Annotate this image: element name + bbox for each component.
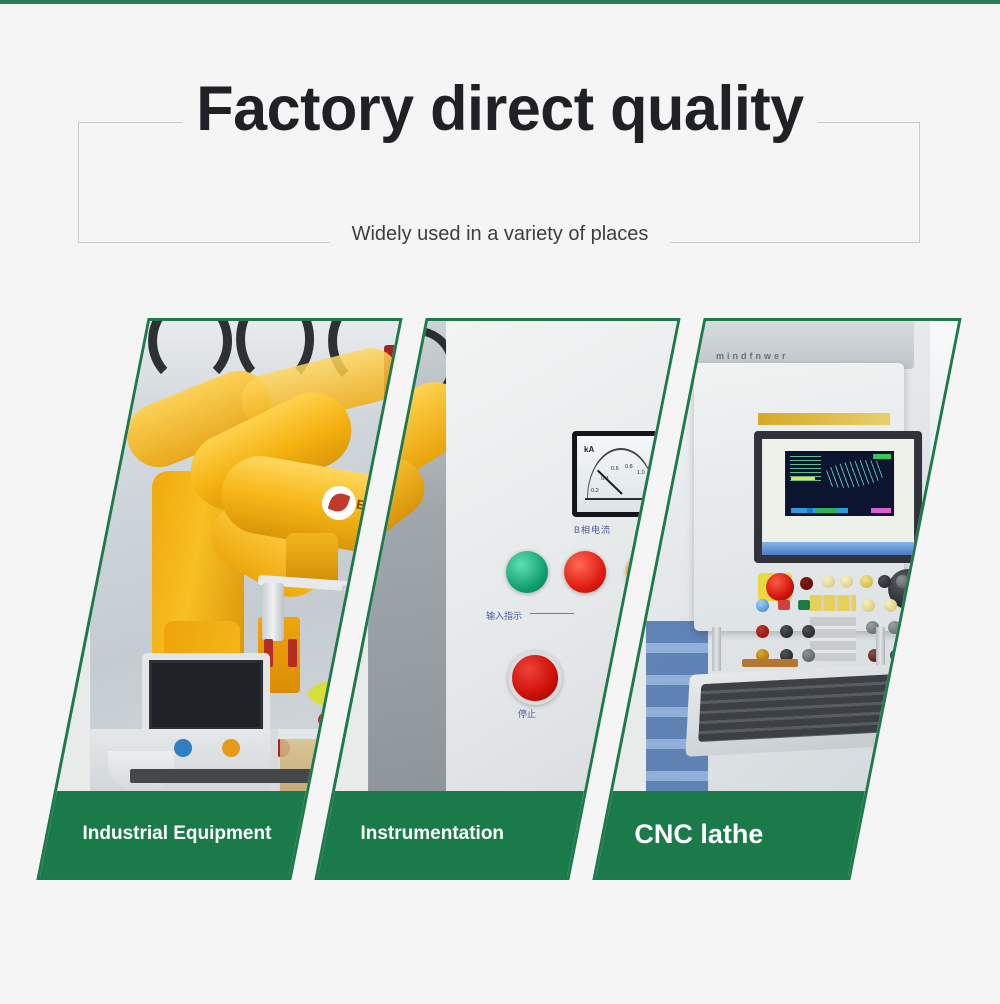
- card-caption-label: CNC lathe: [604, 819, 763, 850]
- category-card-strip: EFORT Industrial Equipment: [0, 318, 1000, 888]
- card-caption-label: Industrial Equipment: [48, 823, 271, 845]
- page-subtitle-text: Widely used in a variety of places: [330, 223, 671, 245]
- cnc-display-bezel: [754, 431, 922, 563]
- stop-button-label: 停止: [518, 707, 536, 720]
- card-caption-label: Instrumentation: [326, 823, 504, 845]
- card-caption-bar: CNC lathe: [596, 791, 865, 877]
- page-title-text: Factory direct quality: [183, 74, 818, 144]
- top-accent-strip: [0, 0, 1000, 4]
- hmi-touchscreen: [142, 653, 270, 737]
- indicator-lamp-green-input: [506, 551, 548, 593]
- page-subtitle: Widely used in a variety of places: [0, 224, 1000, 244]
- stop-button[interactable]: [508, 651, 562, 705]
- ammeter-phase-b-label: B相电流: [574, 523, 611, 536]
- card-caption-bar: Industrial Equipment: [40, 791, 306, 877]
- keyboard-tray: [685, 663, 912, 757]
- machine-brand-label: mindfnwer: [716, 351, 789, 361]
- header-banner: Factory direct quality Widely used in a …: [0, 60, 1000, 270]
- page-title: Factory direct quality: [15, 78, 985, 141]
- cnc-display-screen: [762, 439, 914, 555]
- cnc-lathe-console-photo: mindfnwer: [646, 321, 962, 795]
- meter-unit-label: kA: [584, 445, 594, 454]
- indicator-lamp-red: [564, 551, 606, 593]
- card-caption-bar: Instrumentation: [318, 791, 584, 877]
- emergency-stop-button[interactable]: [766, 573, 794, 601]
- input-indicator-label: 输入指示: [486, 609, 522, 622]
- ammeter-phase-b: kA 0.2 0.4 0.6 0.8 1.0: [572, 431, 660, 517]
